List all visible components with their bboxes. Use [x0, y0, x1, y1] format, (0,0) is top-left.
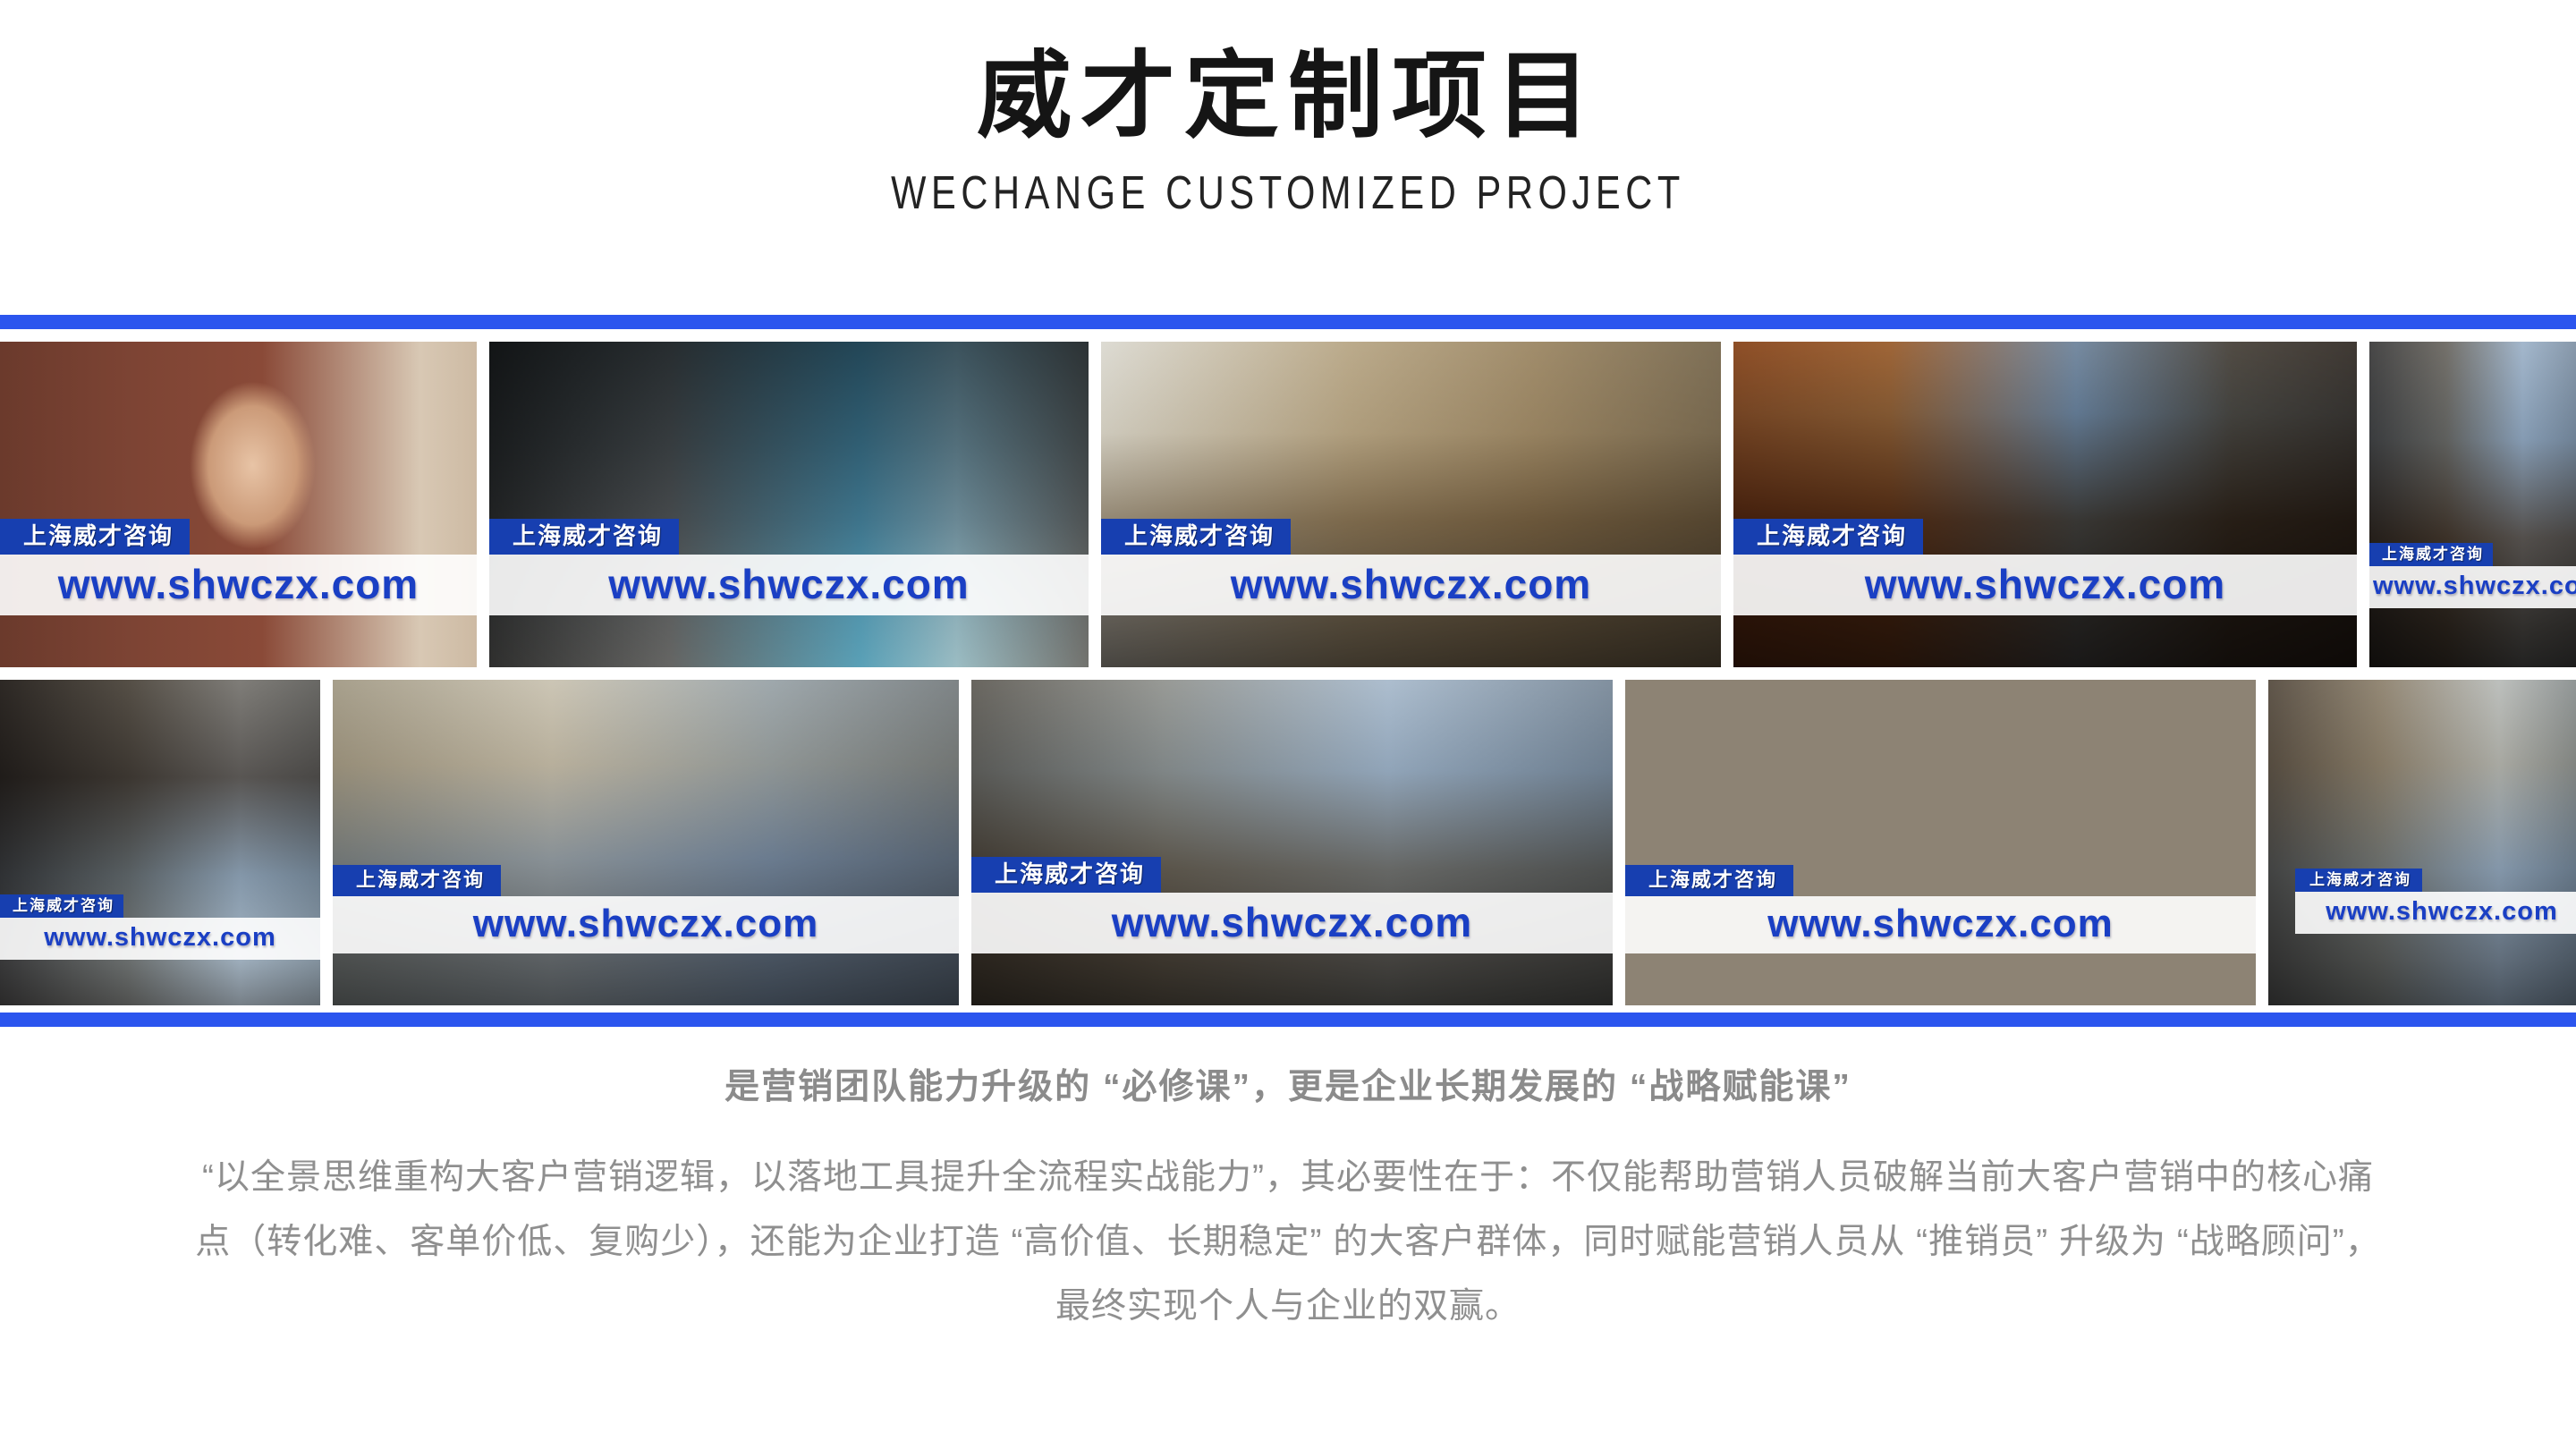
watermark-company-tab: 上海威才咨询 [333, 865, 501, 896]
photo-watermark: 上海威才咨询 www.shwczx.com [489, 519, 1089, 615]
page-header: 威才定制项目 WECHANGE CUSTOMIZED PROJECT [0, 0, 2576, 220]
gallery-photo[interactable]: 上海威才咨询 www.shwczx.com [0, 342, 477, 667]
photo-row: 上海威才咨询 www.shwczx.com 上海威才咨询 www.shwczx.… [0, 342, 2576, 667]
watermark-company-tab: 上海威才咨询 [0, 519, 190, 555]
watermark-company-tab: 上海威才咨询 [1733, 519, 1923, 555]
photo-row: 上海威才咨询 www.shwczx.com 上海威才咨询 www.shwczx.… [0, 680, 2576, 1005]
divider-rule-bottom [0, 1013, 2576, 1027]
footer-paragraph-line: “以全景思维重构大客户营销逻辑，以落地工具提升全流程实战能力”，其必要性在于：不… [80, 1146, 2495, 1210]
watermark-url: www.shwczx.com [2295, 892, 2576, 934]
gallery-photo[interactable]: 上海威才咨询 www.shwczx.com [2369, 342, 2576, 667]
watermark-company-tab: 上海威才咨询 [2295, 869, 2422, 892]
divider-rule-top [0, 315, 2576, 329]
photo-gallery: 上海威才咨询 www.shwczx.com 上海威才咨询 www.shwczx.… [0, 342, 2576, 1007]
photo-watermark: 上海威才咨询 www.shwczx.com [333, 865, 959, 953]
watermark-company-tab: 上海威才咨询 [1101, 519, 1291, 555]
watermark-company-tab: 上海威才咨询 [1625, 865, 1793, 896]
gallery-photo[interactable]: 上海威才咨询 www.shwczx.com [971, 680, 1613, 1005]
watermark-url: www.shwczx.com [971, 893, 1613, 953]
photo-watermark: 上海威才咨询 www.shwczx.com [0, 894, 320, 960]
footer-paragraph-line: 最终实现个人与企业的双赢。 [80, 1275, 2495, 1339]
watermark-url: www.shwczx.com [1625, 896, 2256, 953]
page-title: 威才定制项目 [0, 47, 2576, 147]
gallery-photo[interactable]: 上海威才咨询 www.shwczx.com [2268, 680, 2576, 1005]
footer-text-block: 是营销团队能力升级的 “必修课”，更是企业长期发展的 “战略赋能课” “以全景思… [0, 1070, 2576, 1339]
watermark-company-tab: 上海威才咨询 [0, 894, 123, 918]
gallery-photo[interactable]: 上海威才咨询 www.shwczx.com [1733, 342, 2357, 667]
watermark-company-tab: 上海威才咨询 [489, 519, 679, 555]
gallery-photo[interactable]: 上海威才咨询 www.shwczx.com [1101, 342, 1721, 667]
gallery-photo[interactable]: 上海威才咨询 www.shwczx.com [333, 680, 959, 1005]
gallery-photo[interactable]: 上海威才咨询 www.shwczx.com [0, 680, 320, 1005]
watermark-url: www.shwczx.com [1733, 555, 2357, 615]
watermark-url: www.shwczx.com [2369, 566, 2576, 608]
gallery-photo[interactable]: 上海威才咨询 www.shwczx.com [489, 342, 1089, 667]
footer-paragraph: “以全景思维重构大客户营销逻辑，以落地工具提升全流程实战能力”，其必要性在于：不… [80, 1146, 2495, 1339]
footer-headline: 是营销团队能力升级的 “必修课”，更是企业长期发展的 “战略赋能课” [0, 1070, 2576, 1105]
watermark-company-tab: 上海威才咨询 [971, 857, 1161, 893]
photo-watermark: 上海威才咨询 www.shwczx.com [2369, 543, 2576, 608]
watermark-url: www.shwczx.com [333, 896, 959, 953]
photo-watermark: 上海威才咨询 www.shwczx.com [1101, 519, 1721, 615]
photo-watermark: 上海威才咨询 www.shwczx.com [1733, 519, 2357, 615]
photo-watermark: 上海威才咨询 www.shwczx.com [2268, 869, 2576, 934]
watermark-company-tab: 上海威才咨询 [2369, 543, 2493, 566]
footer-paragraph-line: 点（转化难、客单价低、复购少），还能为企业打造 “高价值、长期稳定” 的大客户群… [80, 1210, 2495, 1275]
photo-watermark: 上海威才咨询 www.shwczx.com [971, 857, 1613, 953]
photo-watermark: 上海威才咨询 www.shwczx.com [1625, 865, 2256, 953]
watermark-url: www.shwczx.com [489, 555, 1089, 615]
gallery-photo[interactable]: 上海威才咨询 www.shwczx.com [1625, 680, 2256, 1005]
photo-watermark: 上海威才咨询 www.shwczx.com [0, 519, 477, 615]
page-subtitle: WECHANGE CUSTOMIZED PROJECT [258, 166, 2318, 220]
watermark-url: www.shwczx.com [0, 555, 477, 615]
watermark-url: www.shwczx.com [0, 918, 320, 960]
watermark-url: www.shwczx.com [1101, 555, 1721, 615]
